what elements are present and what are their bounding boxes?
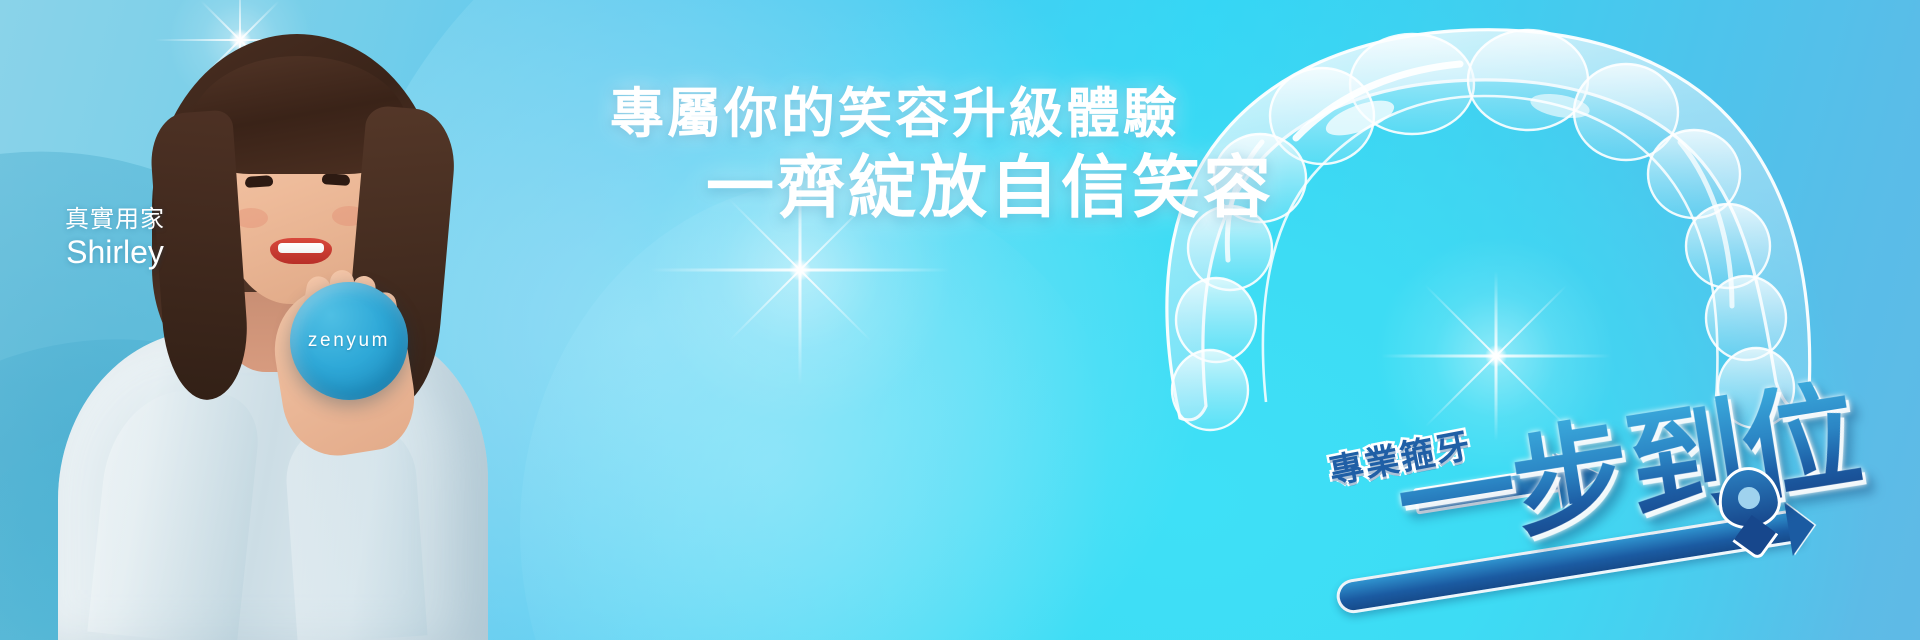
headline-line-2: 一齊綻放自信笑容: [480, 150, 1310, 228]
model-bangs: [190, 56, 408, 174]
zenyum-logo: zenyum: [308, 330, 390, 352]
testimonial-name: Shirley: [40, 235, 190, 271]
model-neck: [226, 292, 318, 372]
model-eyebrow-right: [318, 154, 354, 164]
model-eye-left: [245, 175, 274, 188]
model-ear: [372, 186, 394, 220]
testimonial-label: 真實用家: [40, 205, 190, 234]
background-swirl-middle: [0, 282, 393, 640]
zenyum-promo-banner: zenyum 真實用家 Shirley 專屬你的笑容升級體驗 一齊綻放自信笑容 …: [0, 0, 1920, 640]
model-shirt-fold-right: [282, 416, 427, 640]
background-swirl-inner: [0, 430, 300, 640]
model-finger-1: [296, 274, 333, 353]
background-swirl-outer: [0, 51, 529, 640]
model-cheek-right: [332, 206, 366, 226]
headline-line-1: 專屬你的笑容升級體驗: [480, 84, 1310, 144]
model-shirt: [58, 330, 488, 640]
model-face: [216, 96, 380, 304]
background-light-glow: [520, 180, 1140, 640]
model-teeth: [278, 243, 324, 253]
model-finger-2: [325, 269, 355, 352]
model-lips: [270, 238, 332, 264]
model-eye-right: [322, 173, 351, 186]
model-eyebrow-left: [240, 156, 276, 166]
model-cheek-left: [234, 208, 268, 228]
model-finger-4: [372, 291, 405, 360]
testimonial-caption: 真實用家 Shirley: [40, 205, 190, 271]
headline-block: 專屬你的笑容升級體驗 一齊綻放自信笑容: [480, 84, 1310, 228]
model-hand: [266, 277, 423, 464]
model-hair-back: [152, 34, 442, 394]
model-finger-3: [352, 275, 379, 354]
product-case: zenyum: [290, 282, 408, 400]
model-hair-right: [341, 105, 459, 412]
key-visual-lockup: 一步到位 專業箍牙: [1310, 395, 1910, 630]
model-earring: [373, 216, 390, 233]
model-shirt-fold-left: [87, 383, 262, 640]
